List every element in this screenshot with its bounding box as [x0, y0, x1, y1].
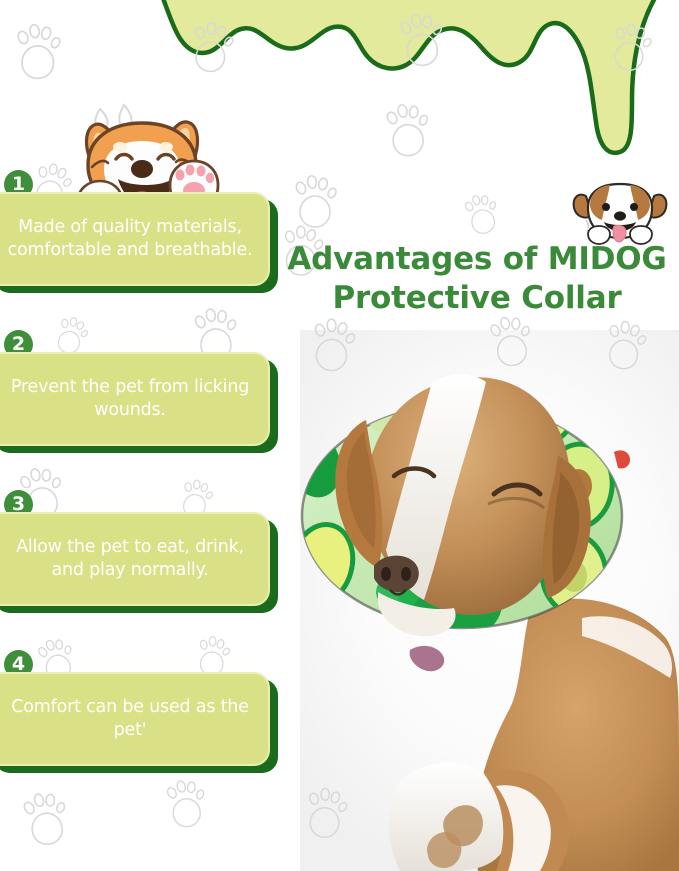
feature-text-1: Made of quality materials, comfortable a…	[4, 216, 256, 262]
feature-box-surface: Allow the pet to eat, drink, and play no…	[0, 512, 270, 606]
feature-text-2: Prevent the pet from licking wounds.	[4, 376, 256, 422]
jack-eye-left	[602, 203, 610, 211]
jack-eye-right	[630, 203, 638, 211]
drip-fill	[160, 0, 679, 153]
feature-box-3: Allow the pet to eat, drink, and play no…	[0, 512, 278, 606]
feature-text-4: Comfort can be used as the pet'	[4, 696, 256, 742]
feature-box-surface: Comfort can be used as the pet'	[0, 672, 270, 766]
title-line-2: Protective Collar	[275, 279, 679, 318]
feature-text-3: Allow the pet to eat, drink, and play no…	[4, 536, 256, 582]
infographic-root: Advantages of MIDOG Protective Collar 1 …	[0, 0, 679, 871]
feature-box-surface: Made of quality materials, comfortable a…	[0, 192, 270, 286]
product-photo-dog-with-collar	[282, 368, 679, 871]
jack-nose	[614, 211, 626, 220]
feature-box-2: Prevent the pet from licking wounds.	[0, 352, 278, 446]
page-title: Advantages of MIDOG Protective Collar	[275, 240, 679, 318]
feature-box-surface: Prevent the pet from licking wounds.	[0, 352, 270, 446]
title-line-1: Advantages of MIDOG	[287, 241, 666, 277]
feature-box-4: Comfort can be used as the pet'	[0, 672, 278, 766]
feature-box-1: Made of quality materials, comfortable a…	[0, 192, 278, 286]
